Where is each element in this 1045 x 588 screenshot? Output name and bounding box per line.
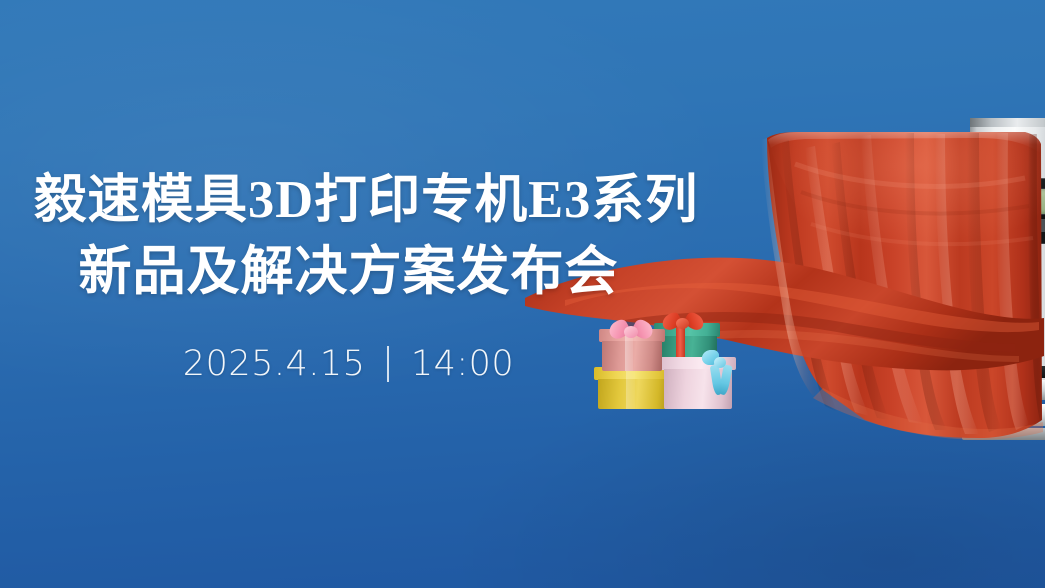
banner-time: 14:00: [411, 344, 514, 384]
banner-date: 2025.4.15: [183, 344, 366, 384]
banner-title-line-2: 新品及解决方案发布会: [0, 236, 705, 308]
banner-datetime-row: 2025.4.15 14:00: [0, 344, 705, 384]
banner-datetime-separator: [387, 346, 388, 382]
gift-box-lilac-blue-bow: [702, 350, 738, 398]
event-banner: 毅速模具3D打印专机E3系列 新品及解决方案发布会 2025.4.15 14:0…: [0, 0, 1045, 588]
banner-text-block: 毅速模具3D打印专机E3系列 新品及解决方案发布会 2025.4.15 14:0…: [0, 164, 705, 384]
banner-title-line-1: 毅速模具3D打印专机E3系列: [0, 164, 705, 236]
